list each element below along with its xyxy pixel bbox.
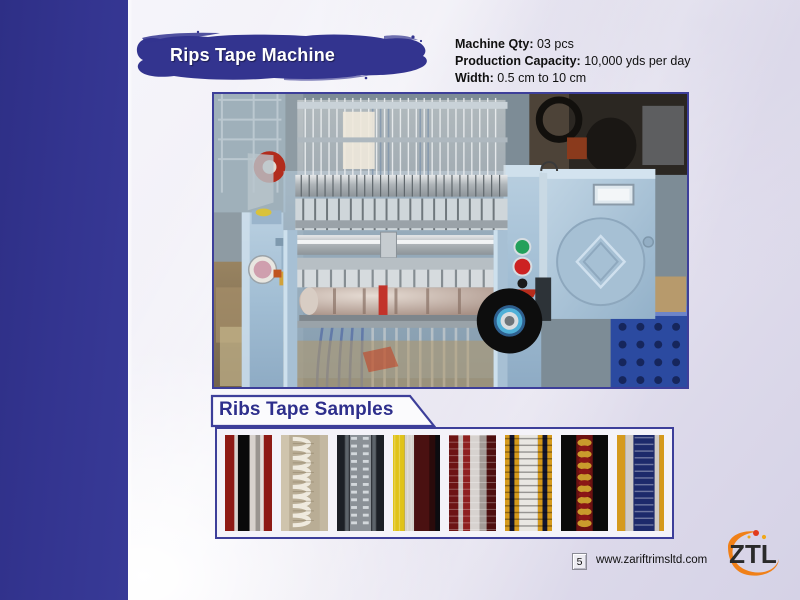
machine-photo-frame — [212, 92, 689, 389]
list-item — [505, 435, 552, 531]
spec-label: Width: — [455, 71, 494, 85]
list-item — [337, 435, 384, 531]
left-band-highlight — [128, 0, 132, 600]
list-item — [561, 435, 608, 531]
website-url[interactable]: www.zariftrimsltd.com — [596, 554, 707, 566]
spec-value: 03 pcs — [537, 37, 574, 51]
list-item — [225, 435, 272, 531]
spec-row-machine-qty: Machine Qty: 03 pcs — [455, 36, 691, 53]
list-item — [393, 435, 440, 531]
machine-photo — [214, 94, 687, 387]
spec-value: 10,000 yds per day — [584, 54, 690, 68]
list-item — [617, 435, 664, 531]
spec-row-production-capacity: Production Capacity: 10,000 yds per day — [455, 53, 691, 70]
spec-value: 0.5 cm to 10 cm — [497, 71, 586, 85]
page-title: Rips Tape Machine — [170, 45, 400, 66]
spec-label: Machine Qty: — [455, 37, 534, 51]
spec-label: Production Capacity: — [455, 54, 581, 68]
left-blue-band — [0, 0, 128, 600]
ztl-logo-text: ZTL — [729, 539, 777, 569]
slide-canvas: Rips Tape Machine Machine Qty: 03 pcs Pr… — [0, 0, 800, 600]
spec-list: Machine Qty: 03 pcs Production Capacity:… — [455, 36, 691, 87]
list-item — [449, 435, 496, 531]
samples-title: Ribs Tape Samples — [219, 399, 394, 421]
spec-row-width: Width: 0.5 cm to 10 cm — [455, 70, 691, 87]
list-item — [281, 435, 328, 531]
page-number-badge: 5 — [572, 553, 587, 570]
samples-container — [215, 427, 674, 539]
ztl-logo: ZTL — [722, 527, 784, 579]
